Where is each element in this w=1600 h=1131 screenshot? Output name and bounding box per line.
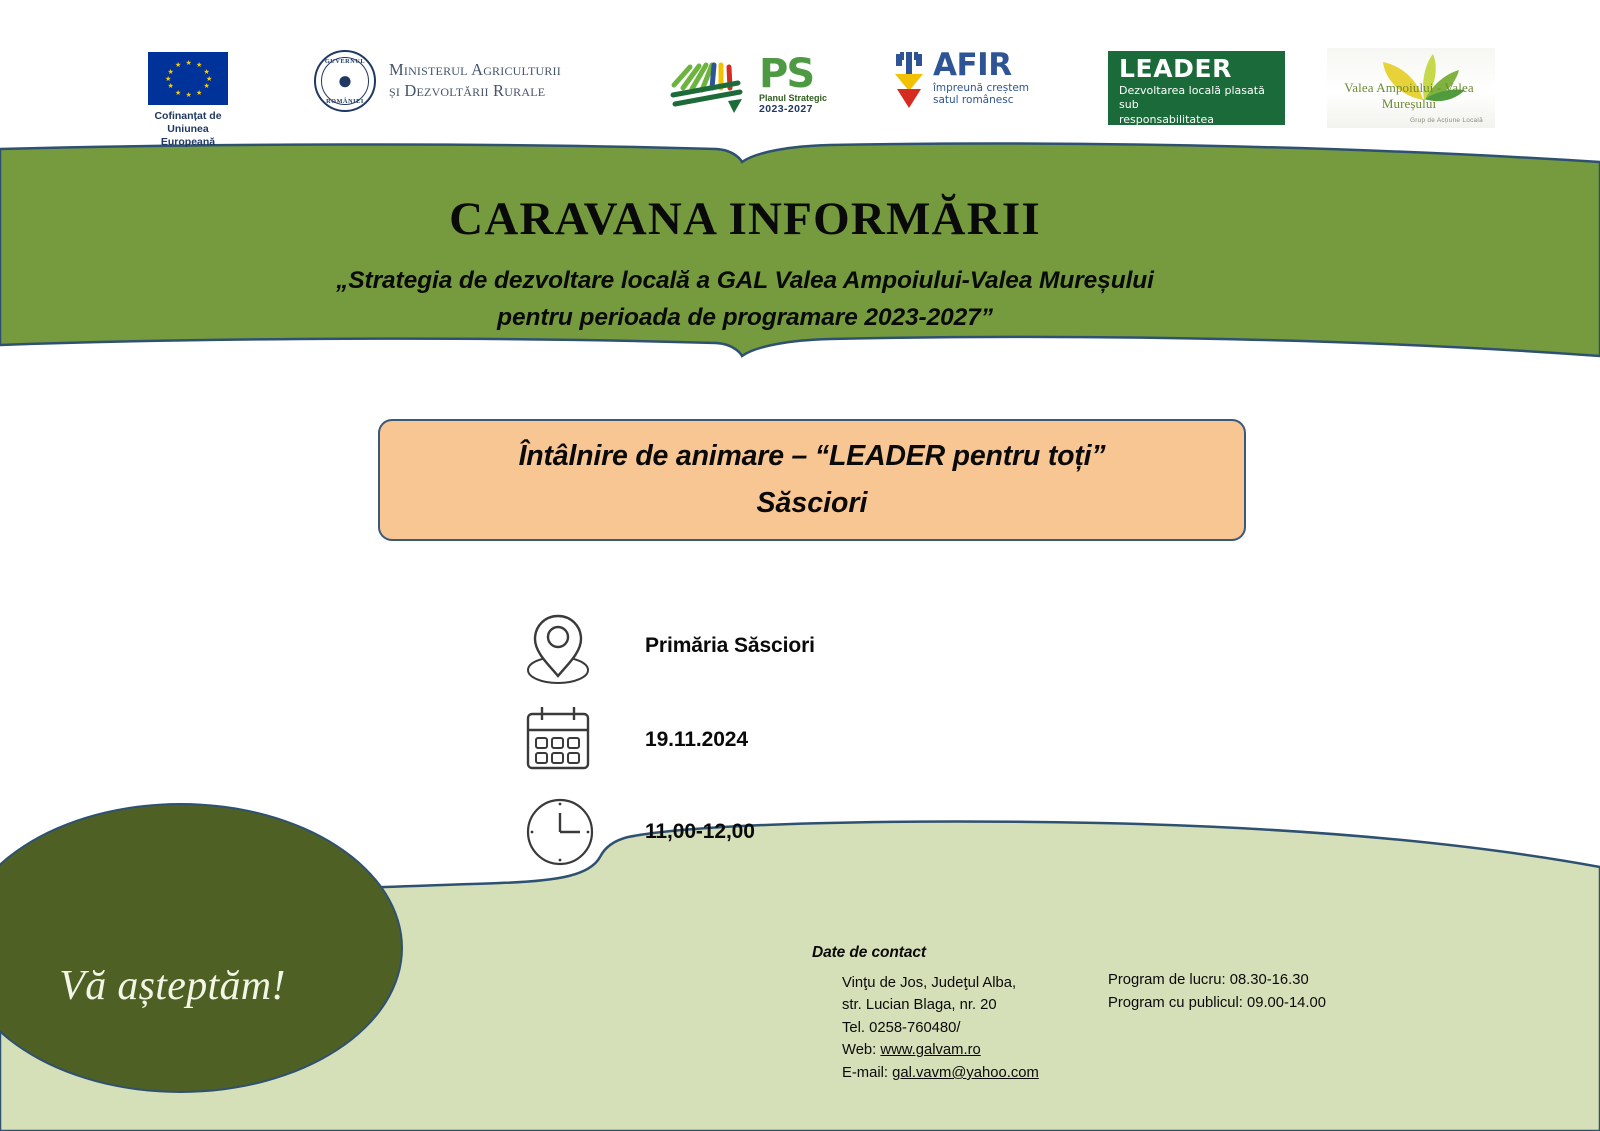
- afir-logo: AFIR împreună creștem satul românesc: [892, 50, 1029, 112]
- contact-web-link[interactable]: www.galvam.ro: [880, 1042, 980, 1058]
- location-pin-icon: [520, 608, 600, 686]
- gal-title: Valea Ampoiului - Valea Mureșului: [1327, 80, 1491, 112]
- detail-value-location: Primăria Săsciori: [645, 634, 815, 658]
- eagle-icon: ●: [337, 67, 353, 93]
- event-title-line2: Săsciori: [757, 487, 868, 520]
- banner-subtitle-line2: pentru perioada de programare 2023-2027”: [0, 299, 1490, 336]
- poster-canvas: Vă așteptăm! ★ ★ ★ ★ ★ ★ ★ ★ ★ ★ ★ ★ Cof…: [0, 0, 1600, 1131]
- office-hours-public: Program cu publicul: 09.00-14.00: [1108, 992, 1326, 1015]
- calendar-icon: [520, 702, 600, 780]
- afir-sub1: împreună creștem: [933, 82, 1029, 95]
- gal-logo: Valea Ampoiului - Valea Mureșului Grup d…: [1327, 48, 1495, 128]
- leader-sub1: Dezvoltarea locală plasată sub: [1119, 84, 1276, 113]
- seal-top-text: GUVERNUL: [316, 58, 374, 65]
- page-title: CARAVANA INFORMĂRII: [0, 192, 1490, 246]
- contact-email-label: E-mail:: [842, 1065, 888, 1081]
- madr-line1: Ministerul Agriculturii: [389, 60, 561, 81]
- banner-subtitle: „Strategia de dezvoltare locală a GAL Va…: [0, 262, 1490, 336]
- eu-cofinancing-logo: ★ ★ ★ ★ ★ ★ ★ ★ ★ ★ ★ ★ Cofinanțat de Un…: [148, 52, 228, 149]
- banner-subtitle-line1: „Strategia de dezvoltare locală a GAL Va…: [0, 262, 1490, 299]
- contact-details: Vinţu de Jos, Judeţul Alba, str. Lucian …: [842, 972, 1039, 1084]
- eu-caption: Cofinanțat de Uniunea Europeană: [148, 110, 228, 149]
- eu-caption-line1: Cofinanțat de: [148, 110, 228, 123]
- contact-web-label: Web:: [842, 1042, 876, 1058]
- seal-bottom-text: ROMÂNIEI: [316, 98, 374, 105]
- contact-phone: Tel. 0258-760480/: [842, 1017, 1039, 1039]
- ps-mark: PS: [759, 58, 827, 91]
- office-hours-work: Program de lucru: 08.30-16.30: [1108, 969, 1326, 992]
- detail-value-time: 11,00-12,00: [645, 820, 755, 844]
- contact-block: Date de contact Vinţu de Jos, Judeţul Al…: [812, 944, 1039, 1084]
- detail-value-date: 19.11.2024: [645, 728, 748, 752]
- leader-sub2: responsabilitatea comunității: [1119, 113, 1276, 142]
- contact-heading: Date de contact: [812, 944, 1039, 962]
- header-logo-strip: ★ ★ ★ ★ ★ ★ ★ ★ ★ ★ ★ ★ Cofinanțat de Un…: [0, 0, 1600, 150]
- leader-sub: Dezvoltarea locală plasată sub responsab…: [1119, 84, 1276, 141]
- afir-sub2: satul românesc: [933, 94, 1029, 107]
- contact-web-row: Web: www.galvam.ro: [842, 1039, 1039, 1061]
- ps-fan-icon: [668, 55, 750, 117]
- romania-government-seal-icon: GUVERNUL ● ROMÂNIEI: [314, 50, 376, 112]
- contact-email-link[interactable]: gal.vavm@yahoo.com: [892, 1065, 1039, 1081]
- event-title-line1: Întâlnire de animare – “LEADER pentru to…: [519, 440, 1106, 473]
- call-to-action-text: Vă așteptăm!: [59, 962, 285, 1010]
- afir-word: AFIR: [933, 52, 1029, 79]
- eu-flag-icon: ★ ★ ★ ★ ★ ★ ★ ★ ★ ★ ★ ★: [148, 52, 228, 105]
- madr-line2: și Dezvoltării Rurale: [389, 81, 561, 102]
- ps-text: PS Planul Strategic 2023-2027: [759, 58, 827, 117]
- contact-email-row: E-mail: gal.vavm@yahoo.com: [842, 1062, 1039, 1084]
- leader-logo: LEADER Dezvoltarea locală plasată sub re…: [1108, 51, 1285, 125]
- madr-text: Ministerul Agriculturii și Dezvoltării R…: [389, 60, 561, 102]
- clock-icon: [520, 794, 600, 872]
- ps-sub2: 2023-2027: [759, 103, 827, 115]
- ps-sub1: Planul Strategic: [759, 93, 827, 103]
- madr-logo: GUVERNUL ● ROMÂNIEI Ministerul Agricultu…: [314, 50, 561, 112]
- contact-address-line2: str. Lucian Blaga, nr. 20: [842, 994, 1039, 1016]
- wheat-tricolor-icon: [892, 50, 926, 112]
- afir-sub: împreună creștem satul românesc: [933, 82, 1029, 108]
- contact-address-line1: Vinţu de Jos, Judeţul Alba,: [842, 972, 1039, 994]
- ps-logo: PS Planul Strategic 2023-2027: [668, 55, 827, 117]
- event-title-box: Întâlnire de animare – “LEADER pentru to…: [378, 419, 1246, 541]
- afir-text: AFIR împreună creștem satul românesc: [933, 50, 1029, 107]
- leader-word: LEADER: [1119, 56, 1276, 81]
- gal-subtitle: Grup de Acțiune Locală: [1410, 117, 1483, 124]
- eu-caption-line2: Uniunea Europeană: [148, 123, 228, 149]
- office-hours-block: Program de lucru: 08.30-16.30 Program cu…: [1108, 969, 1326, 1015]
